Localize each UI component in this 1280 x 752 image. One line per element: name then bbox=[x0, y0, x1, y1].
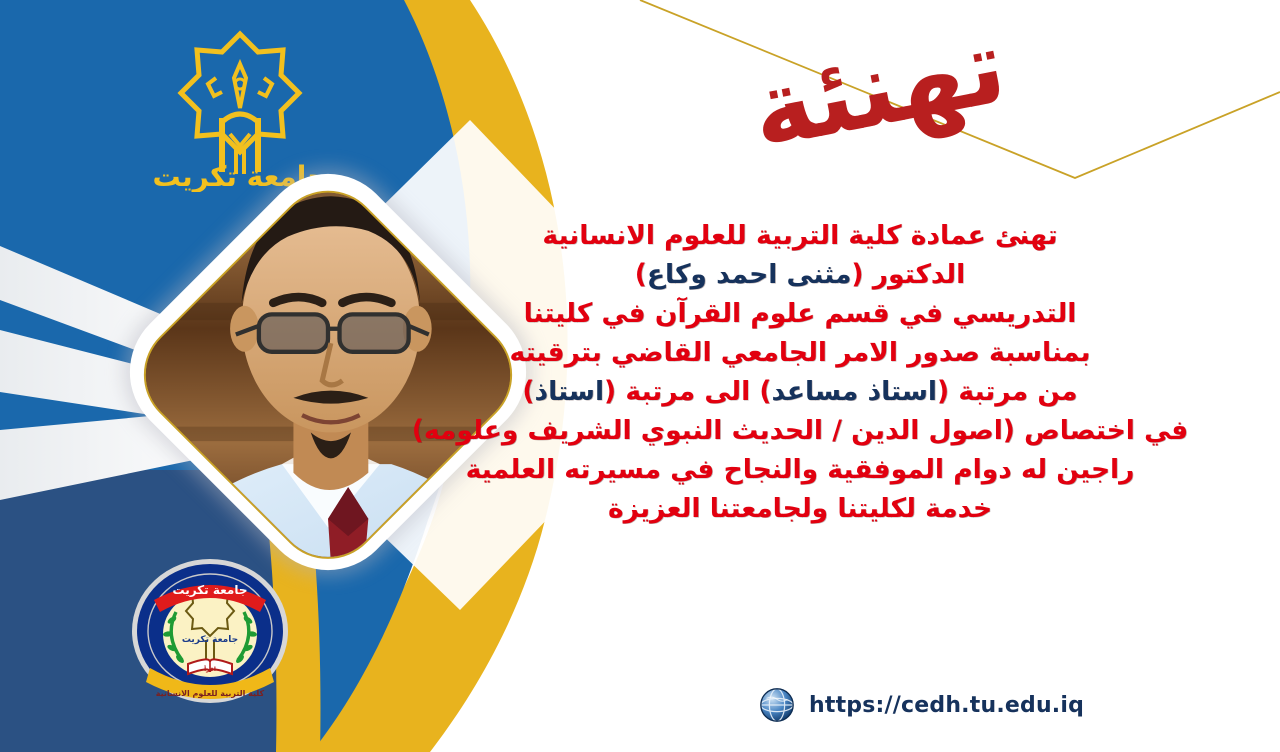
message-segment: الدكتور bbox=[864, 259, 966, 290]
college-of-education-seal: جامعة تكريت اقرأ جامعة تكريت كلية التربي… bbox=[128, 556, 292, 706]
tikrit-university-logo-glyph: جامعة تكريت bbox=[150, 22, 330, 192]
message-segment: خدمة لكليتنا ولجامعتنا العزيزة bbox=[608, 493, 992, 524]
message-segment: راجين له دوام الموفقية والنجاح في مسيرته… bbox=[466, 454, 1135, 485]
seal-inner-text: جامعة تكريت bbox=[182, 635, 238, 645]
message-line-6: في اختصاص (اصول الدين / الحديث النبوي ال… bbox=[360, 411, 1240, 450]
message-line-1: تهنئ عمادة كلية التربية للعلوم الانسانية bbox=[360, 216, 1240, 255]
message-segment: مثنى احمد وكاع bbox=[647, 259, 852, 290]
message-segment: تهنئ عمادة كلية التربية للعلوم الانسانية bbox=[542, 220, 1057, 251]
message-segment: بمناسبة صدور الامر الجامعي القاضي بترقيت… bbox=[510, 337, 1091, 368]
seal-book-text: اقرأ bbox=[204, 665, 216, 673]
congratulation-message: تهنئ عمادة كلية التربية للعلوم الانسانية… bbox=[360, 216, 1240, 528]
message-segment: ( bbox=[937, 376, 949, 407]
message-segment: في اختصاص (اصول الدين / الحديث النبوي ال… bbox=[412, 415, 1189, 446]
message-line-8: خدمة لكليتنا ولجامعتنا العزيزة bbox=[360, 489, 1240, 528]
congratulation-poster: جامعة تكريت bbox=[0, 0, 1280, 752]
footer-website[interactable]: https://cedh.tu.edu.iq bbox=[758, 686, 1084, 724]
message-line-4: بمناسبة صدور الامر الجامعي القاضي بترقيت… bbox=[360, 333, 1240, 372]
seal-bottom-banner-text: كلية التربية للعلوم الانسانية bbox=[156, 689, 265, 698]
message-segment: ( bbox=[604, 376, 616, 407]
message-line-3: التدريسي في قسم علوم القرآن في كليتنا bbox=[360, 294, 1240, 333]
message-line-2: الدكتور (مثنى احمد وكاع) bbox=[360, 255, 1240, 294]
message-line-7: راجين له دوام الموفقية والنجاح في مسيرته… bbox=[360, 450, 1240, 489]
college-seal-glyph: جامعة تكريت اقرأ جامعة تكريت كلية التربي… bbox=[128, 556, 292, 706]
message-segment: من مرتبة bbox=[949, 376, 1077, 407]
message-segment: ( bbox=[851, 259, 863, 290]
message-line-5: من مرتبة (استاذ مساعد) الى مرتبة (استاذ) bbox=[360, 372, 1240, 411]
website-url[interactable]: https://cedh.tu.edu.iq bbox=[809, 693, 1084, 718]
message-segment: ) bbox=[759, 376, 771, 407]
message-segment: استاذ bbox=[535, 376, 605, 407]
message-segment: الى مرتبة bbox=[616, 376, 759, 407]
message-segment: ) bbox=[522, 376, 534, 407]
tikrit-university-logo: جامعة تكريت bbox=[150, 22, 330, 192]
seal-top-banner-text: جامعة تكريت bbox=[173, 583, 248, 597]
globe-icon bbox=[758, 686, 796, 724]
message-segment: ) bbox=[635, 259, 647, 290]
message-segment: التدريسي في قسم علوم القرآن في كليتنا bbox=[524, 298, 1077, 329]
message-segment: استاذ مساعد bbox=[772, 376, 937, 407]
